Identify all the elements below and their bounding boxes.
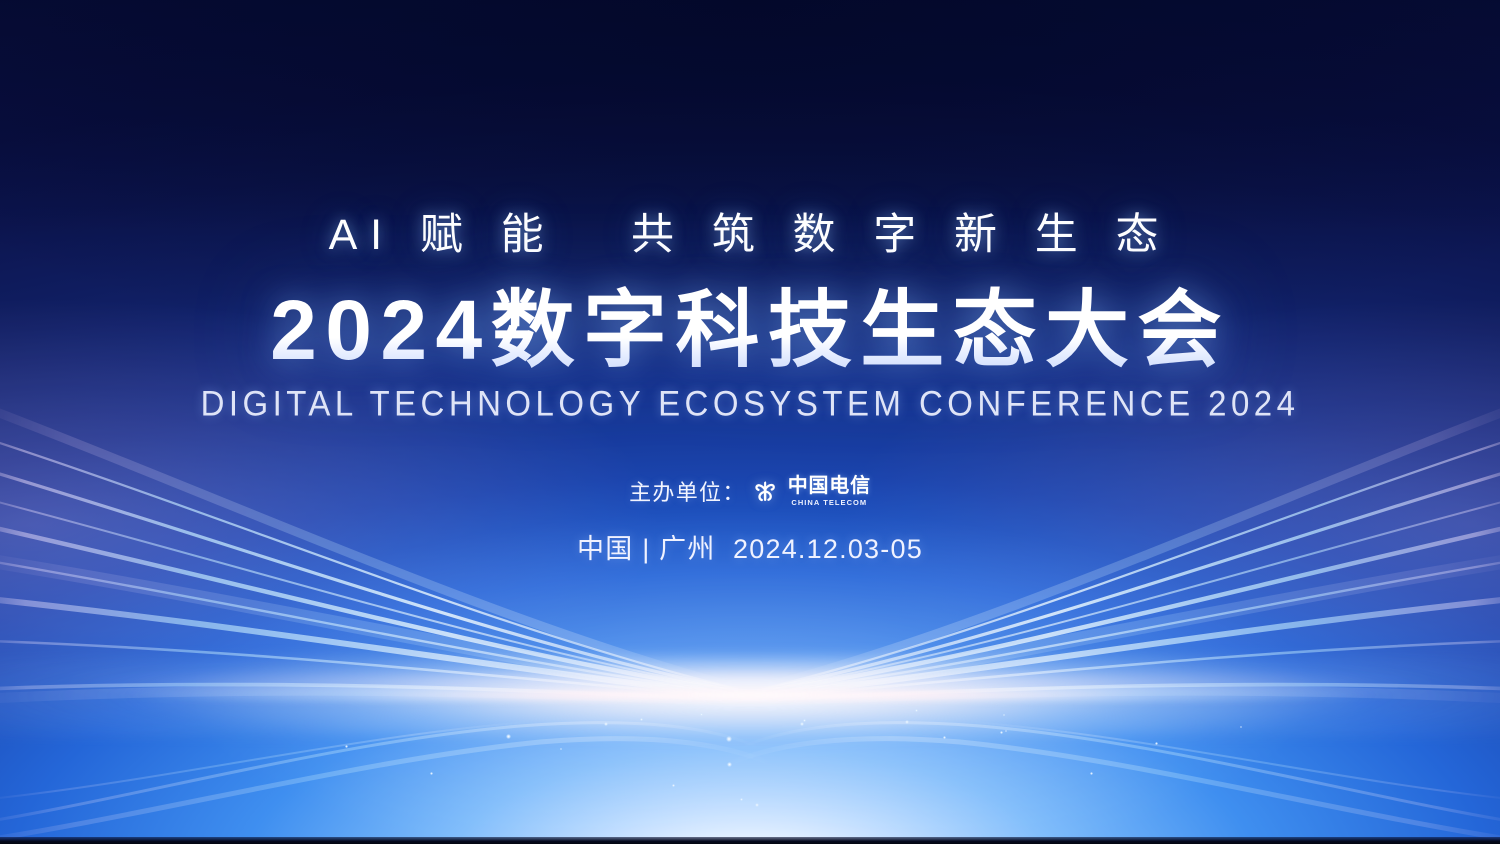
host-organizer-row: 主办单位： 中国电信 CHINA TELECOM [629, 475, 871, 507]
conference-banner: AI 赋 能 共 筑 数 字 新 生 态 2024数字科技生态大会 DIGITA… [0, 0, 1500, 844]
event-title: 2024数字科技生态大会 [270, 286, 1230, 375]
event-venue-date: 中国 | 广州 2024.12.03-05 [577, 527, 923, 566]
sponsor-name-en: CHINA TELECOM [791, 499, 867, 507]
sponsor-name-cn: 中国电信 [788, 476, 871, 496]
event-subtitle-english: DIGITAL TECHNOLOGY ECOSYSTEM CONFERENCE … [201, 384, 1300, 424]
banner-content: AI 赋 能 共 筑 数 字 新 生 态 2024数字科技生态大会 DIGITA… [0, 0, 1500, 844]
sponsor-logo: 中国电信 CHINA TELECOM [752, 476, 871, 507]
china-telecom-swirl-icon [752, 478, 779, 505]
event-tagline: AI 赋 能 共 筑 数 字 新 生 态 [329, 200, 1172, 262]
host-label: 主办单位： [629, 475, 746, 507]
sponsor-logo-text: 中国电信 CHINA TELECOM [788, 476, 871, 507]
